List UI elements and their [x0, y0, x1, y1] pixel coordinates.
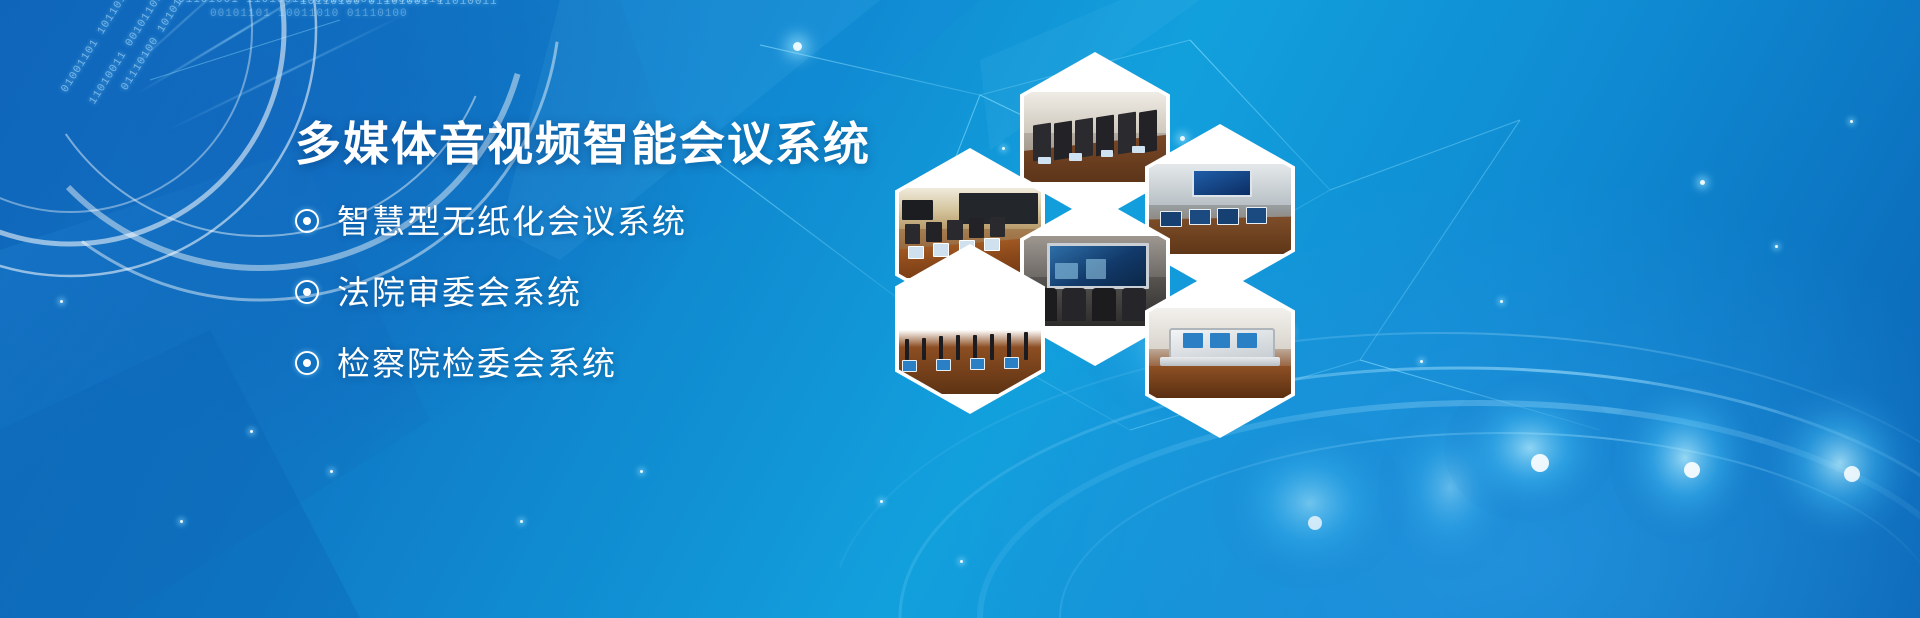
binary-stream-5: 10110100 01101001 11010011	[300, 0, 498, 8]
particle-glow	[330, 470, 333, 473]
feature-label: 智慧型无纸化会议系统	[337, 205, 687, 238]
list-item: 智慧型无纸化会议系统	[295, 205, 895, 238]
hexagon-image-cluster	[895, 52, 1295, 412]
photo-tiered-council-desks	[1149, 164, 1291, 255]
particle-glow	[793, 42, 802, 51]
page-title: 多媒体音视频智能会议系统	[295, 118, 895, 171]
particle-glow	[960, 560, 963, 563]
photo-laptop-terminal-desk	[1149, 308, 1291, 399]
target-dot-icon	[295, 351, 319, 375]
particle-glow	[1850, 120, 1853, 123]
list-item: 法院审委会系统	[295, 276, 895, 309]
particle-glow	[1775, 245, 1778, 248]
particle-glow	[640, 470, 643, 473]
particle-glow	[520, 520, 523, 523]
binary-stream-6: 00101101 10011010 01110100	[210, 8, 408, 20]
binary-stream-4: 01101001 11010011 00101101 10011010	[178, 0, 444, 6]
binary-stream-2: 11010011 00101101 10011010	[87, 0, 202, 107]
feature-label: 检察院检委会系统	[337, 347, 617, 380]
light-streak-1	[136, 0, 334, 95]
photo-display-wall-monitor	[1024, 236, 1166, 327]
particle-glow	[180, 520, 183, 523]
particle-glow	[1700, 180, 1705, 185]
particle-glow	[1500, 300, 1503, 303]
light-streak-3	[118, 0, 253, 80]
promo-banner: 01001101 10110100 01101001 11010011 0010…	[0, 0, 1920, 618]
particle-glow	[60, 300, 63, 303]
feature-label: 法院审委会系统	[337, 276, 582, 309]
banner-copy: 多媒体音视频智能会议系统 智慧型无纸化会议系统 法院审委会系统 检察院检委会系统	[295, 118, 895, 380]
target-dot-icon	[295, 209, 319, 233]
binary-stream-1: 01001101 10110100 01101001	[59, 0, 174, 95]
arc-rings-decoration	[0, 0, 330, 290]
photo-microphone-desk-row	[899, 316, 1041, 394]
binary-stream-3: 01110100 10101101 01001011	[119, 0, 234, 93]
particle-glow	[880, 500, 883, 503]
particle-glow	[1420, 360, 1423, 363]
light-streak-2	[163, 13, 407, 133]
photo-auditorium-seating	[1024, 92, 1166, 183]
particle-glow	[250, 430, 253, 433]
feature-list: 智慧型无纸化会议系统 法院审委会系统 检察院检委会系统	[295, 205, 895, 380]
list-item: 检察院检委会系统	[295, 347, 895, 380]
target-dot-icon	[295, 280, 319, 304]
